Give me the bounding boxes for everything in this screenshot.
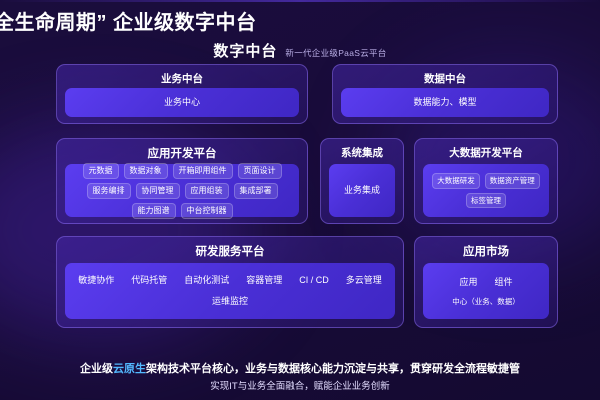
panel-devops-service-platform[interactable]: 研发服务平台 敏捷协作 代码托管 自动化测试 容器管理 CI / CD 多云管理… <box>56 236 404 328</box>
panel-devops-service-platform-title: 研发服务平台 <box>57 243 403 259</box>
footer-highlight-cloud-native: 云原生 <box>113 363 146 375</box>
chip-code-hosting[interactable]: 代码托管 <box>125 272 173 289</box>
chip-collab-management[interactable]: 协同管理 <box>136 183 180 199</box>
page-headline: 全生命周期” 企业级数字中台 <box>0 6 257 35</box>
panel-data-midend-title: 数据中台 <box>333 71 557 86</box>
panel-app-market-inner: 应用 组件 中心（业务、数据） <box>423 263 549 319</box>
diagram-root: 全生命周期” 企业级数字中台 数字中台新一代企业级PaaS云平台 业务中台 业务… <box>0 0 600 400</box>
panel-data-midend-inner: 数据能力、模型 <box>341 88 549 117</box>
chip-container-management[interactable]: 容器管理 <box>240 272 288 289</box>
panel-system-integration[interactable]: 系统集成 业务集成 <box>320 138 404 224</box>
panel-system-integration-title: 系统集成 <box>321 145 403 160</box>
chip-midend-controller[interactable]: 中台控制器 <box>181 203 233 219</box>
chip-agile-collab[interactable]: 敏捷协作 <box>72 272 120 289</box>
subtitle-main: 数字中台 <box>213 43 277 60</box>
panel-app-market-title: 应用市场 <box>415 243 557 259</box>
chip-page-design[interactable]: 页面设计 <box>238 163 282 179</box>
chip-app-assembly[interactable]: 应用组装 <box>185 183 229 199</box>
footer-highlight-agile: 全流程敏捷管 <box>454 363 520 375</box>
chip-ci-cd[interactable]: CI / CD <box>293 272 335 289</box>
panel-business-midend[interactable]: 业务中台 业务中心 <box>56 64 308 124</box>
panel-bigdata-dev-platform[interactable]: 大数据开发平台 大数据研发 数据资产管理 标签管理 <box>414 138 558 224</box>
footer-text-1: 企业级 <box>80 363 113 375</box>
chip-data-asset-management[interactable]: 数据资产管理 <box>485 173 540 189</box>
panel-app-dev-platform[interactable]: 应用开发平台 元数据 数据对象 开箱即用组件 页面设计 服务编排 协同管理 应用… <box>56 138 308 224</box>
chip-tag-management[interactable]: 标签管理 <box>466 193 506 209</box>
chip-multicloud-management[interactable]: 多云管理 <box>340 272 388 289</box>
chip-ready-components[interactable]: 开箱即用组件 <box>173 163 233 179</box>
panel-system-integration-inner: 业务集成 <box>329 164 395 217</box>
top-accent-bar <box>0 0 600 2</box>
panel-bigdata-dev-platform-inner: 大数据研发 数据资产管理 标签管理 <box>423 164 549 217</box>
subtitle-sub: 新一代企业级PaaS云平台 <box>285 48 386 58</box>
footer-highlight-capability: 业务与数据核心能力沉淀与共享 <box>245 363 399 375</box>
panel-app-dev-platform-inner: 元数据 数据对象 开箱即用组件 页面设计 服务编排 协同管理 应用组装 集成部署… <box>65 164 299 217</box>
footer-text-3: ，贯穿研发 <box>399 363 454 375</box>
chip-data-capability-model[interactable]: 数据能力、模型 <box>407 94 482 111</box>
panel-devops-service-platform-inner: 敏捷协作 代码托管 自动化测试 容器管理 CI / CD 多云管理 运维监控 <box>65 263 395 319</box>
chip-metadata[interactable]: 元数据 <box>83 163 119 179</box>
chip-application[interactable]: 应用 <box>453 274 483 291</box>
panel-app-market[interactable]: 应用市场 应用 组件 中心（业务、数据） <box>414 236 558 328</box>
chip-automated-testing[interactable]: 自动化测试 <box>178 272 235 289</box>
footer-block: 企业级云原生架构技术平台核心，业务与数据核心能力沉淀与共享，贯穿研发全流程敏捷管… <box>0 361 600 394</box>
footer-line-1: 企业级云原生架构技术平台核心，业务与数据核心能力沉淀与共享，贯穿研发全流程敏捷管 <box>0 361 600 379</box>
chip-center[interactable]: 中心（业务、数据） <box>448 295 524 309</box>
panel-app-dev-platform-title: 应用开发平台 <box>57 145 307 161</box>
chip-service-orchestration[interactable]: 服务编排 <box>87 183 131 199</box>
chip-bigdata-rnd[interactable]: 大数据研发 <box>432 173 480 189</box>
panel-business-midend-inner: 业务中心 <box>65 88 299 117</box>
chip-ops-monitoring[interactable]: 运维监控 <box>206 293 254 310</box>
subtitle-block: 数字中台新一代企业级PaaS云平台 <box>0 40 600 61</box>
chip-data-object[interactable]: 数据对象 <box>124 163 168 179</box>
footer-text-2: 架构技术平台核心， <box>146 363 245 375</box>
footer-line-2: 实现IT与业务全面融合，赋能企业业务创新 <box>0 379 600 394</box>
chip-component[interactable]: 组件 <box>489 274 519 291</box>
panel-business-midend-title: 业务中台 <box>57 71 307 86</box>
chip-business-integration[interactable]: 业务集成 <box>338 182 386 199</box>
chip-integration-deploy[interactable]: 集成部署 <box>234 183 278 199</box>
panel-bigdata-dev-platform-title: 大数据开发平台 <box>415 145 557 160</box>
chip-capability-graph[interactable]: 能力图谱 <box>132 203 176 219</box>
chip-business-center[interactable]: 业务中心 <box>158 94 206 111</box>
panel-data-midend[interactable]: 数据中台 数据能力、模型 <box>332 64 558 124</box>
